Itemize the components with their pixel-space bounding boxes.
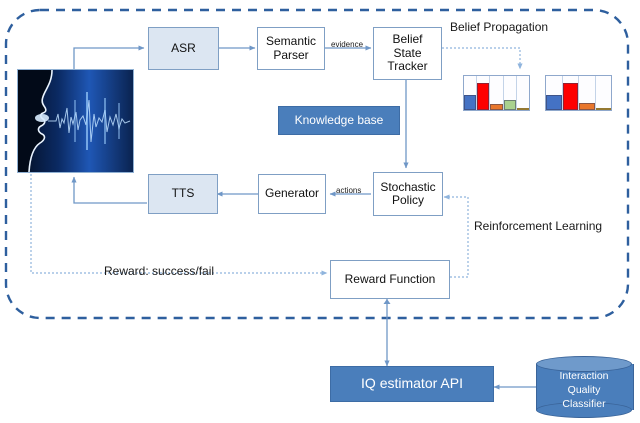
node-semantic-parser-line1: Semantic: [266, 35, 316, 48]
node-asr-label: ASR: [171, 42, 196, 55]
node-tts[interactable]: TTS: [148, 174, 218, 214]
belief-chart-bar: [464, 95, 476, 110]
belief-chart-cell: [546, 76, 563, 110]
node-iq-classifier[interactable]: Interaction Quality Classifier: [536, 356, 632, 418]
belief-chart-cell: [579, 76, 596, 110]
node-bst-line1: Belief: [392, 33, 422, 46]
belief-chart-left: [463, 75, 530, 111]
node-tts-label: TTS: [172, 187, 195, 200]
node-iq-classifier-line2: Quality: [568, 384, 601, 398]
belief-chart-bar: [563, 83, 579, 110]
node-stochastic-policy-line1: Stochastic: [380, 181, 435, 194]
arrow-reward-iq-bidirectional: [384, 299, 391, 366]
label-reward-success-fail: Reward: success/fail: [104, 264, 214, 278]
belief-chart-cell: [596, 76, 612, 110]
diagram-canvas: ASR Semantic Parser Belief State Tracker…: [0, 0, 640, 423]
node-asr[interactable]: ASR: [148, 27, 219, 70]
belief-chart-bar: [504, 100, 516, 110]
belief-chart-cell: [464, 76, 477, 110]
belief-chart-cell: [477, 76, 490, 110]
node-bst-line2: State: [393, 47, 421, 60]
waveform-graphic: [18, 70, 133, 172]
edge-label-evidence: evidence: [331, 40, 363, 49]
node-iq-estimator-label: IQ estimator API: [361, 376, 463, 392]
belief-chart-bar: [517, 108, 529, 110]
belief-chart-bar: [477, 83, 489, 110]
belief-chart-right: [545, 75, 612, 111]
node-iq-classifier-line1: Interaction: [559, 370, 608, 384]
node-reward-function[interactable]: Reward Function: [330, 260, 450, 299]
node-generator[interactable]: Generator: [258, 174, 326, 214]
node-semantic-parser[interactable]: Semantic Parser: [257, 27, 325, 70]
arrow-belief-propagation: [442, 48, 520, 69]
node-generator-label: Generator: [265, 187, 319, 200]
belief-chart-cell: [490, 76, 503, 110]
arrow-tts-to-speaker: [74, 177, 147, 203]
speaker-waveform-image: [17, 69, 134, 173]
label-reinforcement-learning: Reinforcement Learning: [474, 219, 602, 233]
node-belief-state-tracker[interactable]: Belief State Tracker: [373, 27, 442, 80]
node-semantic-parser-line2: Parser: [273, 49, 308, 62]
belief-chart-cell: [517, 76, 529, 110]
belief-chart-bar: [579, 103, 595, 110]
node-knowledge-base-label: Knowledge base: [295, 114, 384, 127]
node-iq-estimator-api[interactable]: IQ estimator API: [330, 366, 494, 402]
node-knowledge-base[interactable]: Knowledge base: [278, 106, 400, 135]
node-iq-classifier-line3: Classifier: [562, 398, 605, 412]
belief-chart-bar: [546, 95, 562, 110]
label-belief-propagation: Belief Propagation: [450, 20, 548, 34]
node-stochastic-policy-line2: Policy: [392, 194, 424, 207]
edge-label-actions: actions: [336, 186, 361, 195]
belief-chart-bar: [596, 108, 612, 110]
node-bst-line3: Tracker: [387, 60, 427, 73]
belief-chart-bar: [490, 104, 502, 110]
arrow-speaker-to-asr: [74, 48, 144, 69]
belief-chart-cell: [563, 76, 580, 110]
belief-chart-cell: [504, 76, 517, 110]
node-stochastic-policy[interactable]: Stochastic Policy: [373, 172, 443, 216]
node-reward-function-label: Reward Function: [345, 273, 436, 286]
node-iq-classifier-text: Interaction Quality Classifier: [536, 366, 632, 416]
